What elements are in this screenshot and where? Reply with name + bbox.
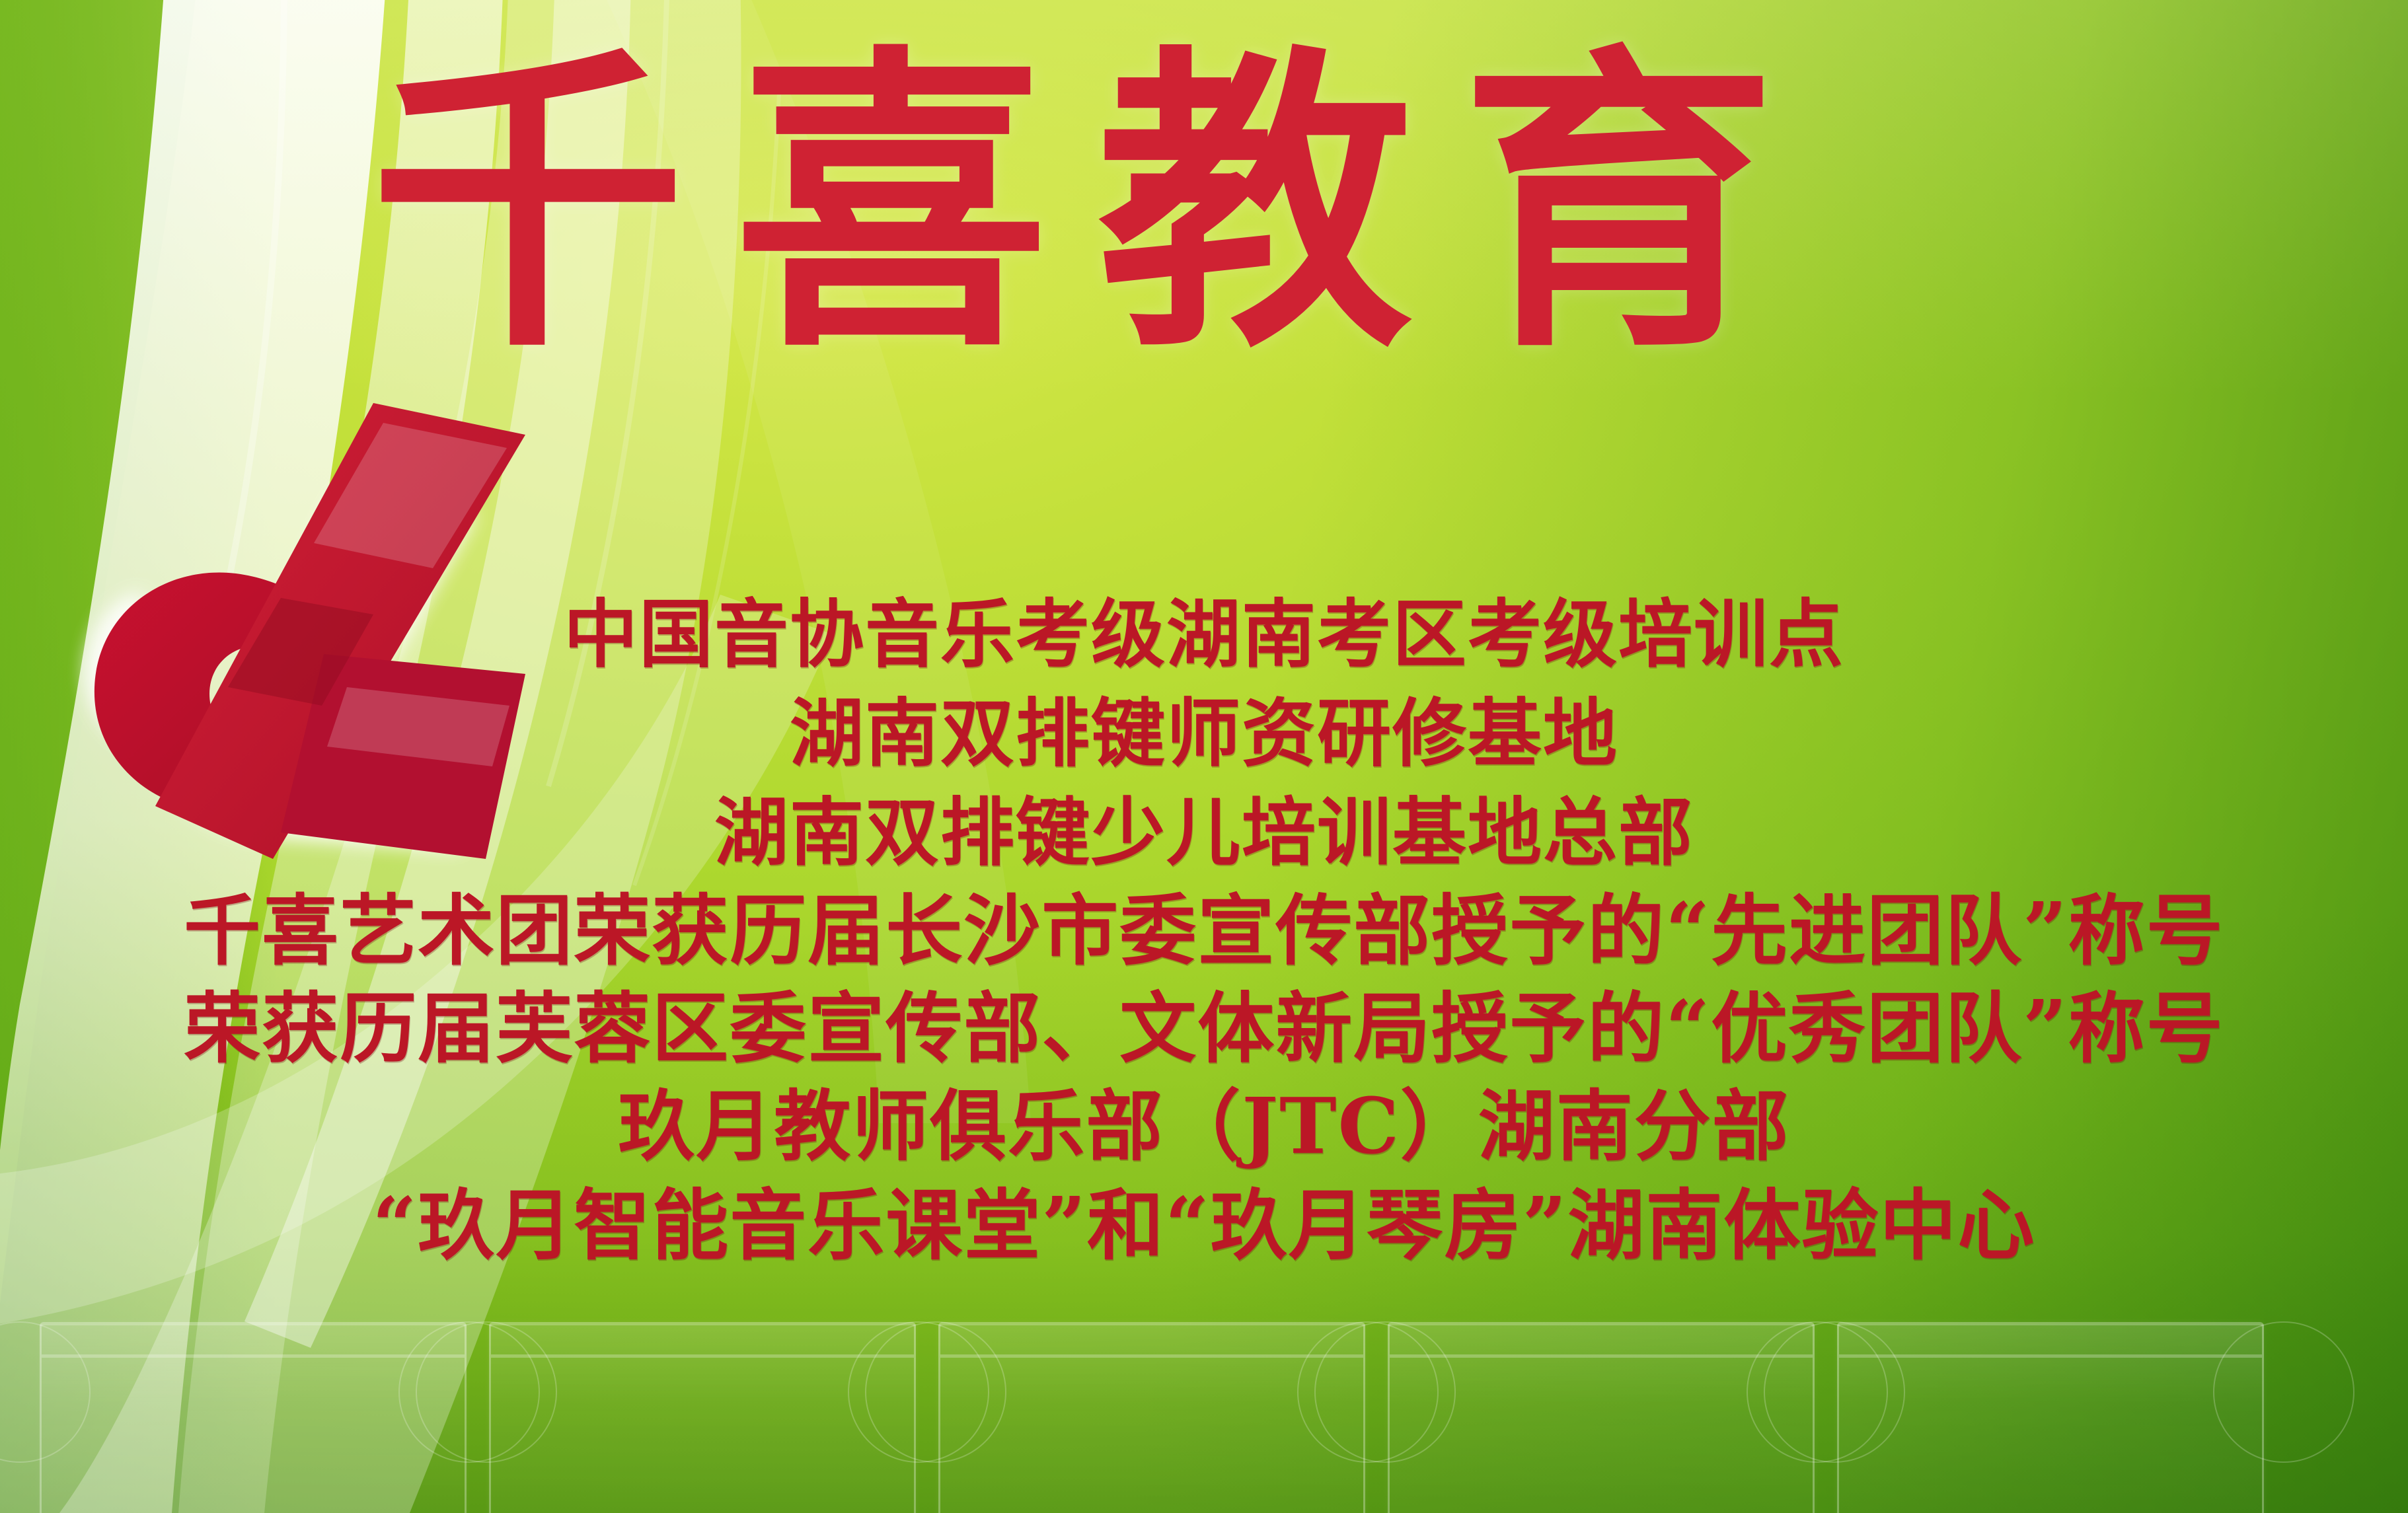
brochure-holder-lip [491, 1354, 914, 1358]
brochure-holder[interactable] [40, 1322, 467, 1513]
brochure-holder-notch-left [1748, 1323, 1887, 1461]
credentials-block: 中国音协音乐考级湖南考区考级培训点 湖南双排键师资研修基地 湖南双排键少儿培训基… [0, 598, 2408, 1264]
brochure-holder-notch-left [1298, 1323, 1437, 1461]
brochure-holder[interactable] [938, 1322, 1365, 1513]
brochure-holder[interactable] [1388, 1322, 1815, 1513]
brochure-holder-lip [1390, 1354, 1813, 1358]
brochure-holder-notch-left [849, 1323, 988, 1461]
wall-signboard: 千喜教育 中国音协音乐考级湖南考区考级培训点 湖南双排键师资研修基地 湖南双排键… [0, 0, 2408, 1513]
page-title: 千喜教育 [370, 36, 2101, 371]
brochure-holder[interactable] [1837, 1322, 2264, 1513]
brochure-holder-lip [42, 1354, 465, 1358]
credential-line-3: 湖南双排键少儿培训基地总部 [0, 796, 2408, 870]
credential-line-1: 中国音协音乐考级湖南考区考级培训点 [0, 598, 2408, 672]
credential-line-6: 玖月教师俱乐部（JTC）湖南分部 [0, 1088, 2408, 1165]
credential-line-2: 湖南双排键师资研修基地 [0, 697, 2408, 771]
brochure-holder-lip [940, 1354, 1363, 1358]
credential-line-7: “玖月智能音乐课堂”和“玖月琴房”湖南体验中心 [0, 1187, 2408, 1264]
credential-line-4: 千喜艺术团荣获历届长沙市委宣传部授予的“先进团队”称号 [0, 893, 2408, 969]
brochure-holder-row [0, 1315, 2408, 1513]
brochure-holder[interactable] [489, 1322, 916, 1513]
brochure-holder-notch-left [400, 1323, 539, 1461]
brochure-holder-lip [1839, 1354, 2262, 1358]
brochure-holder-notch-right [2214, 1323, 2353, 1461]
brochure-holder-notch-left [0, 1323, 89, 1461]
credential-line-5: 荣获历届芙蓉区委宣传部、文体新局授予的“优秀团队”称号 [0, 990, 2408, 1067]
